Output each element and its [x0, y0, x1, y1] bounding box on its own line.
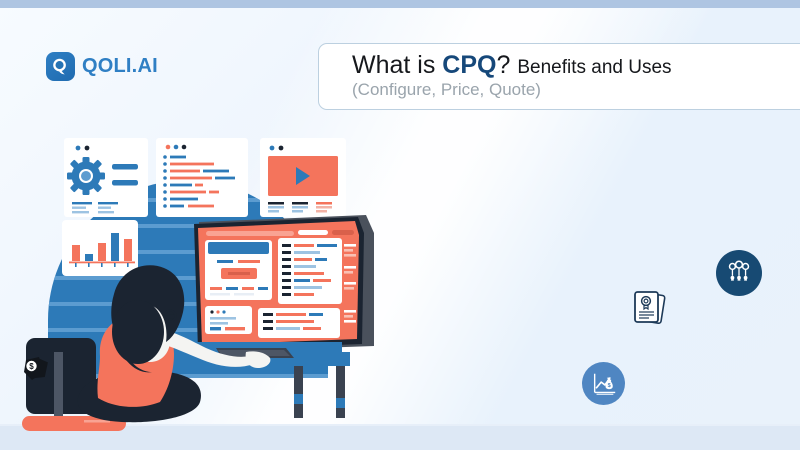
monitor-list-panel — [278, 238, 342, 304]
gear-icon — [67, 157, 105, 195]
title-tail: Benefits and Uses — [517, 57, 671, 78]
qoli-droplet-icon — [46, 52, 75, 81]
page-subtitle: (Configure, Price, Quote) — [352, 80, 800, 100]
code-card — [156, 138, 248, 217]
cpq-article-banner: QOLI.AI What is CPQ? Benefits and Uses (… — [0, 0, 800, 450]
title-prefix: What is — [352, 51, 442, 79]
brand-logo-text: QOLI.AI — [82, 55, 158, 78]
network-nodes-icon — [716, 250, 762, 296]
hero-illustration — [18, 120, 418, 432]
settings-card — [64, 138, 148, 217]
monitor-sidebar-panel — [344, 244, 356, 323]
brand-logo[interactable]: QOLI.AI — [46, 52, 158, 81]
price-tags-icon: $ — [18, 352, 52, 388]
svg-text:$: $ — [29, 362, 34, 371]
title-card: What is CPQ? Benefits and Uses (Configur… — [318, 43, 800, 110]
top-accent-band — [0, 0, 800, 8]
bar-chart-card — [62, 220, 138, 276]
title-suffix: ? — [496, 51, 517, 79]
page-title: What is CPQ? Benefits and Uses — [352, 51, 800, 79]
title-highlight: CPQ — [442, 51, 496, 79]
monitor-form-panel — [205, 240, 272, 300]
revenue-growth-icon: $ — [582, 362, 625, 405]
monitor-table-panel — [258, 308, 340, 338]
certificate-document-icon — [630, 288, 668, 330]
video-card-caption — [268, 202, 332, 213]
video-card — [260, 138, 346, 217]
monitor-notes-panel — [205, 306, 252, 334]
